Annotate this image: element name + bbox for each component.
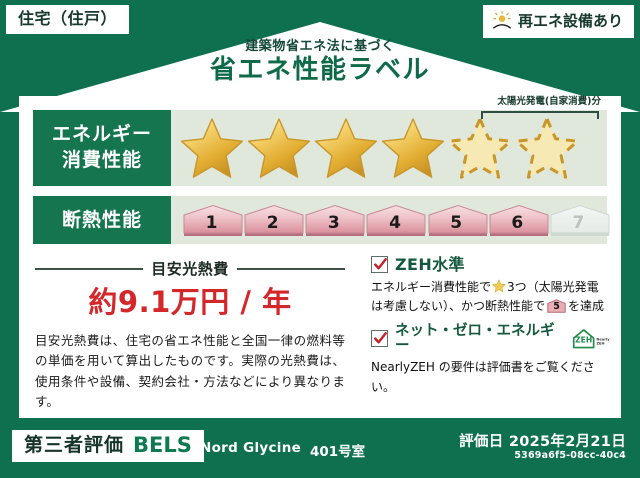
zeh-desc-part1: エネルギー消費性能で xyxy=(371,280,491,294)
building-name: Nord Glycine xyxy=(200,440,301,456)
star-filled xyxy=(380,116,446,180)
renewable-equipment-tag: 再エネ設備あり xyxy=(483,5,634,38)
utility-cost-value: 約9.1万円 / 年 xyxy=(35,288,345,317)
energy-label-line2: 消費性能 xyxy=(62,148,142,174)
energy-star-rating xyxy=(175,116,580,180)
evaluation-id: 5369a6f5-08cc-40c4 xyxy=(514,450,626,461)
rule-right xyxy=(237,268,345,270)
insulation-level-3: 3 xyxy=(305,203,362,237)
star-filled xyxy=(179,116,245,180)
room-number: 401号室 xyxy=(310,440,365,460)
check-icon xyxy=(373,331,388,346)
insulation-performance-row: 断熱性能 1234567 xyxy=(33,196,607,244)
footer-bar: 第三者評価 BELS Nord Glycine 401号室 評価日 2025年2… xyxy=(0,418,640,478)
level-value: 6 xyxy=(511,213,523,237)
insulation-level-6: 6 xyxy=(489,203,546,237)
evaluation-date: 評価日 2025年2月21日 xyxy=(459,430,626,451)
zeh-standard-item: ZEH水準 エネルギー消費性能で3つ（太陽光発電 は考慮しない）、かつ断熱性能で… xyxy=(371,256,611,316)
bels-badge: 第三者評価 BELS xyxy=(12,430,204,462)
energy-stars-panel: 太陽光発電(自家消費)分 xyxy=(171,110,607,186)
net-zero-title: ネット・ゼロ・エネルギー xyxy=(395,324,560,353)
level-value: 7 xyxy=(572,213,584,237)
energy-label-line1: エネルギー xyxy=(52,122,152,148)
level-value: 4 xyxy=(389,213,401,237)
check-icon xyxy=(373,257,388,272)
zeh-nearly-house-logo: ZEH Nearly ZEH xyxy=(571,326,611,352)
level-value: 5 xyxy=(450,213,462,237)
energy-performance-label: エネルギー 消費性能 xyxy=(33,110,171,186)
title-block: 建築物省エネ法に基づく 省エネ性能ラベル xyxy=(0,40,640,85)
utility-cost-heading: 目安光熱費 xyxy=(35,258,345,279)
zeh-desc-starcount: 3つ（太陽光発電 xyxy=(507,280,599,294)
zeh-standard-title: ZEH水準 xyxy=(395,257,465,273)
insulation-level-1: 1 xyxy=(183,203,240,237)
net-zero-description: NearlyZEH の要件は評価書をご覧ください。 xyxy=(371,358,611,396)
level-value: 1 xyxy=(206,213,218,237)
utility-cost-heading-text: 目安光熱費 xyxy=(151,258,229,279)
label-card: エネルギー 消費性能 太陽光発電(自家消費)分 断熱性能 1234567 目安光… xyxy=(19,96,621,418)
level-value: 2 xyxy=(267,213,279,237)
inline-chip-value: 5 xyxy=(547,299,566,313)
net-zero-header: ネット・ゼロ・エネルギー ZEH Nearly ZEH xyxy=(371,324,611,353)
rule-left xyxy=(35,268,143,270)
svg-text:ZEH: ZEH xyxy=(597,341,605,345)
insulation-level-scale: 1234567 xyxy=(171,196,607,244)
inline-level-chip: 5 xyxy=(547,299,566,313)
insulation-level-4: 4 xyxy=(366,203,423,237)
star-filled xyxy=(246,116,312,180)
star-solar xyxy=(447,116,513,180)
sun-solar-icon xyxy=(491,10,513,32)
star-solar xyxy=(514,116,580,180)
zeh-standard-checkbox[interactable] xyxy=(371,256,388,273)
title-subtitle: 建築物省エネ法に基づく xyxy=(0,40,640,54)
title-main: 省エネ性能ラベル xyxy=(0,56,640,85)
net-zero-energy-item: ネット・ゼロ・エネルギー ZEH Nearly ZEH NearlyZEH の要… xyxy=(371,324,611,396)
insulation-label-text: 断熱性能 xyxy=(62,211,142,230)
bels-jp-label: 第三者評価 xyxy=(24,436,124,455)
insulation-performance-label: 断熱性能 xyxy=(33,196,171,244)
utility-cost-note: 目安光熱費は、住宅の省エネ性能と全国一律の燃料等の単価を用いて算出したものです。… xyxy=(35,331,345,412)
star-filled xyxy=(313,116,379,180)
zeh-standard-description: エネルギー消費性能で3つ（太陽光発電 は考慮しない）、かつ断熱性能で5を達成 xyxy=(371,278,611,316)
energy-performance-row: エネルギー 消費性能 太陽光発電(自家消費)分 xyxy=(33,110,607,186)
bels-en-label: BELS xyxy=(133,435,192,456)
zeh-desc-part3: を達成 xyxy=(568,299,604,313)
insulation-level-5: 5 xyxy=(428,203,485,237)
net-zero-checkbox[interactable] xyxy=(371,330,388,347)
inline-star-icon xyxy=(492,279,506,293)
svg-text:ZEH: ZEH xyxy=(575,335,592,344)
housing-type-tag: 住宅（住戸） xyxy=(6,5,129,34)
solar-bracket xyxy=(481,111,599,119)
zeh-block: ZEH水準 エネルギー消費性能で3つ（太陽光発電 は考慮しない）、かつ断熱性能で… xyxy=(371,256,611,405)
renewable-tag-label: 再エネ設備あり xyxy=(518,14,623,29)
level-value: 3 xyxy=(328,213,340,237)
zeh-standard-header: ZEH水準 xyxy=(371,256,611,273)
insulation-level-7: 7 xyxy=(550,203,607,237)
energy-performance-label: 住宅（住戸） 再エネ設備あり 建築物省エネ法に基づく 省エネ性能ラベル エネルギ… xyxy=(0,0,640,478)
zeh-desc-part2: は考慮しない）、かつ断熱性能で xyxy=(371,299,545,313)
insulation-level-2: 2 xyxy=(244,203,301,237)
utility-cost-block: 目安光熱費 約9.1万円 / 年 目安光熱費は、住宅の省エネ性能と全国一律の燃料… xyxy=(35,258,345,412)
solar-annotation-text: 太陽光発電(自家消費)分 xyxy=(497,93,601,107)
